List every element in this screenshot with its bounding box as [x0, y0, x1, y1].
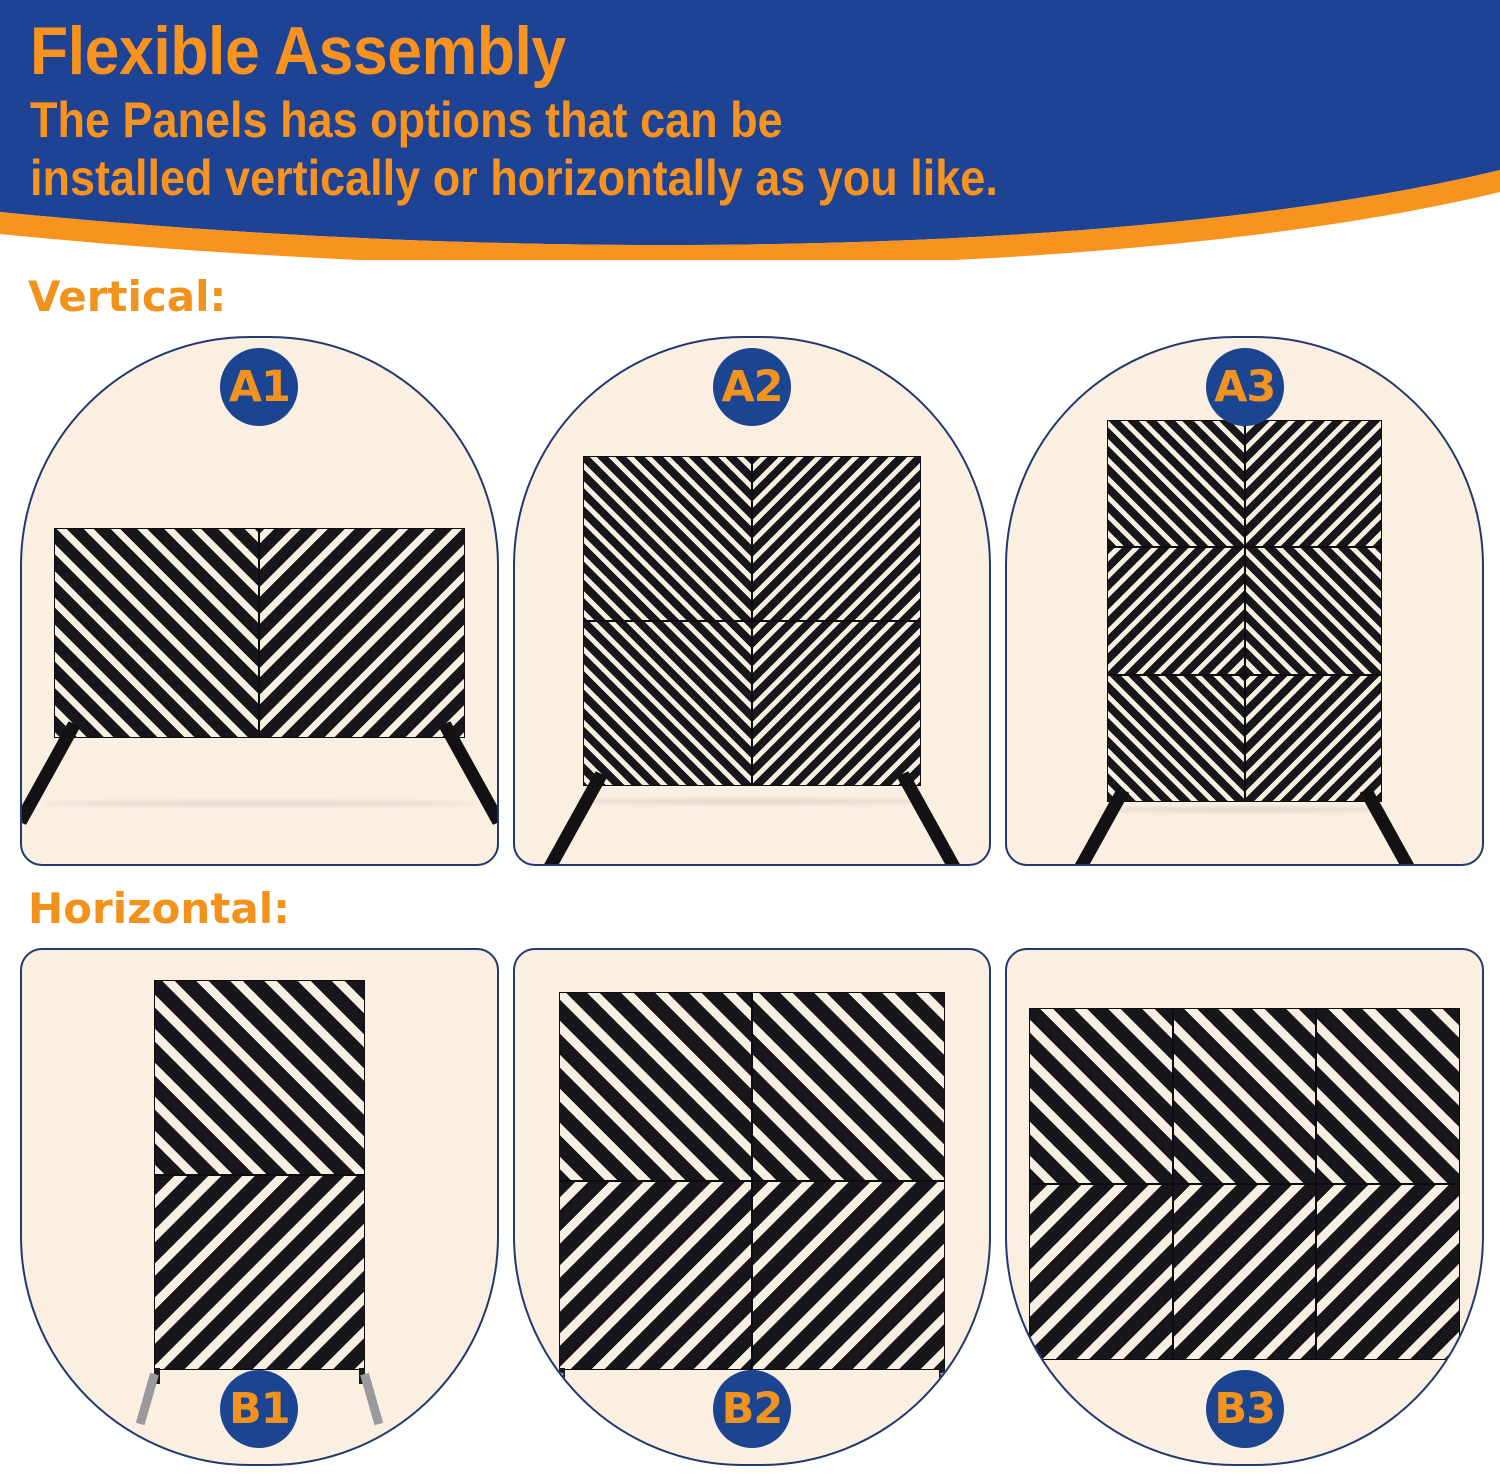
panel-tile	[1107, 547, 1244, 674]
badge-b1: B1	[220, 1370, 298, 1448]
panel-tile	[752, 621, 921, 786]
a3-ground-shadow	[1102, 807, 1387, 812]
card-a1[interactable]: A1	[20, 336, 499, 866]
panel-tile	[1245, 675, 1382, 802]
panel-tile	[583, 456, 752, 621]
panel-tile	[1107, 675, 1244, 802]
a1-right-foot	[438, 721, 498, 825]
panel-tile	[752, 456, 921, 621]
a2-ground-shadow	[575, 799, 930, 804]
b1-screen-panel	[154, 980, 365, 1370]
badge-a2: A2	[713, 348, 791, 426]
panel-tile	[1029, 1008, 1173, 1184]
card-b2[interactable]: B2	[513, 948, 992, 1466]
vertical-card-row: A1 A2 A3	[20, 336, 1484, 866]
panel-tile	[583, 621, 752, 786]
card-a2[interactable]: A2	[513, 336, 992, 866]
horizontal-card-row: B1 B2 B3	[20, 948, 1484, 1466]
b1-left-foot	[136, 1373, 159, 1425]
b2-right-foot	[941, 1371, 960, 1408]
panel-tile	[752, 992, 945, 1181]
panel-tile	[1316, 1184, 1460, 1360]
panel-tile	[1316, 1008, 1460, 1184]
a1-ground-shadow	[44, 801, 475, 806]
panel-tile	[559, 1181, 752, 1370]
panel-tile	[1173, 1008, 1317, 1184]
panel-tile	[259, 528, 464, 738]
b1-right-foot	[360, 1373, 383, 1425]
a2-screen-panel	[583, 456, 922, 786]
a3-screen-panel	[1107, 420, 1382, 802]
panel-tile	[1173, 1184, 1317, 1360]
card-b1[interactable]: B1	[20, 948, 499, 1466]
b3-right-foot	[1455, 1361, 1473, 1396]
panel-tile	[1107, 420, 1244, 547]
panel-tile	[154, 1175, 365, 1370]
section-label-horizontal: Horizontal:	[28, 884, 290, 933]
b3-screen-panel	[1029, 1008, 1460, 1360]
card-b3[interactable]: B3	[1005, 948, 1484, 1466]
panel-tile	[559, 992, 752, 1181]
card-a3[interactable]: A3	[1005, 336, 1484, 866]
a1-screen-panel	[54, 528, 465, 738]
b2-left-foot	[545, 1371, 564, 1408]
page-title: Flexible Assembly	[30, 12, 1373, 90]
a2-left-foot	[541, 771, 607, 866]
badge-b3: B3	[1206, 1370, 1284, 1448]
badge-a3: A3	[1206, 348, 1284, 426]
panel-tile	[1029, 1184, 1173, 1360]
a3-left-foot	[1064, 787, 1130, 866]
panel-tile	[1245, 420, 1382, 547]
panel-tile	[54, 528, 259, 738]
badge-b2: B2	[713, 1370, 791, 1448]
a1-left-foot	[20, 721, 80, 825]
header-text-block: Flexible Assembly The Panels has options…	[30, 12, 1490, 206]
a3-right-foot	[1360, 787, 1426, 866]
section-label-vertical: Vertical:	[28, 272, 226, 321]
b2-screen-panel	[559, 992, 946, 1370]
b3-left-foot	[1016, 1361, 1034, 1396]
panel-tile	[154, 980, 365, 1175]
badge-a1: A1	[220, 348, 298, 426]
header-subtitle-line-2: installed vertically or horizontally as …	[30, 150, 1344, 206]
panel-tile	[752, 1181, 945, 1370]
header-banner: Flexible Assembly The Panels has options…	[0, 0, 1500, 260]
header-subtitle-line-1: The Panels has options that can be	[30, 92, 1344, 148]
a2-right-foot	[897, 771, 963, 866]
panel-tile	[1245, 547, 1382, 674]
